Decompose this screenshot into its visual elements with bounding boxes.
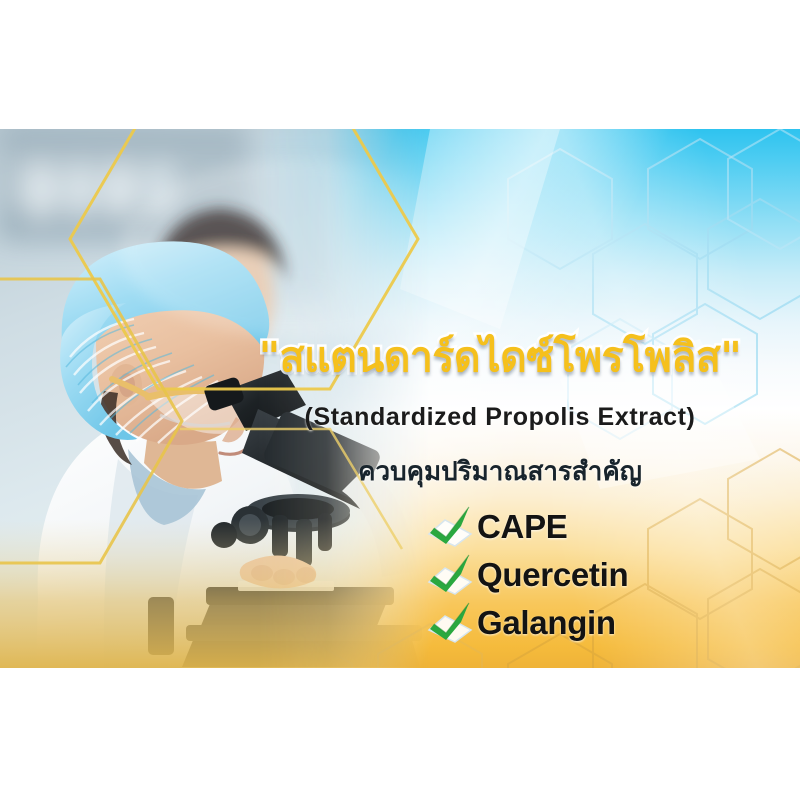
green-check-icon: [425, 552, 477, 596]
active-compounds-checklist: CAPE Quercetin: [425, 502, 725, 646]
green-check-icon: [425, 504, 477, 548]
checklist-item: CAPE: [425, 502, 725, 550]
checklist-item: Quercetin: [425, 550, 725, 598]
checklist-item: Galangin: [425, 598, 725, 646]
checklist-item-label: Galangin: [477, 606, 616, 639]
lab-scientist-photo: [0, 129, 430, 668]
checklist-item-label: Quercetin: [477, 558, 628, 591]
checklist-item-label: CAPE: [477, 510, 568, 543]
green-check-icon: [425, 600, 477, 644]
promo-banner: "สแตนดาร์ดไดซ์โพรโพลิส" (Standardized Pr…: [0, 129, 800, 668]
banner-title-thai: "สแตนดาร์ดไดซ์โพรโพลิส": [250, 336, 750, 379]
banner-subtitle-thai: ควบคุมปริมาณสารสำคัญ: [250, 451, 750, 492]
page-canvas: "สแตนดาร์ดไดซ์โพรโพลิส" (Standardized Pr…: [0, 0, 800, 800]
banner-title-english: (Standardized Propolis Extract): [250, 403, 750, 432]
